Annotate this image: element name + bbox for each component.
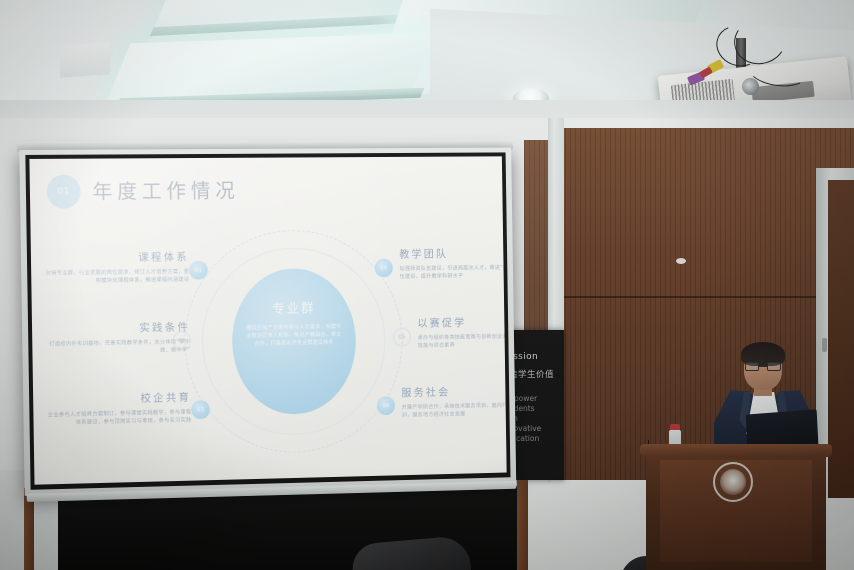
lecture-hall-scene: Mission 创造学生价值 Empower students with inn…: [0, 0, 854, 570]
slide-section-badge: 01: [47, 175, 81, 209]
podium-top-surface: [640, 444, 832, 457]
slide-block-practice-body: 打造校内外实训基地，完善实践教学条件，充分体现“学中做、做中学”: [42, 338, 190, 357]
slide-block-practice: 实践条件 打造校内外实训基地，完善实践教学条件，充分体现“学中做、做中学”: [42, 319, 191, 357]
slide-block-teaching-team-heading: 教学团队: [399, 245, 506, 261]
slide-title: 年度工作情况: [92, 175, 240, 205]
diagram-node-04-label: 04: [380, 265, 387, 271]
diagram-node-03-label: 03: [197, 407, 205, 413]
diagram-node-01-label: 01: [195, 267, 203, 273]
podium-emblem-icon: [713, 462, 753, 502]
projection-screen: 01 年度工作情况 专业群 围绕区域产业链布局与人才需求，构建专业群协同育人机制…: [19, 148, 516, 496]
slide-block-curriculum: 课程体系 对接专业群、行业发展的岗位需求，修订人才培养方案，重构模块化课程体系，…: [41, 249, 190, 286]
slide-block-teaching-team-body: 加强师资队伍建设，引进高层次人才，推进“双师型”教师队伍建设，提升教学科研水平: [399, 264, 506, 282]
diagram-node-03: 03: [191, 400, 210, 419]
diagram-node-05: 05: [393, 328, 411, 347]
wood-seam-horizontal: [560, 296, 854, 298]
slide-block-social-service-heading: 服务社会: [401, 383, 506, 400]
slide-block-curriculum-heading: 课程体系: [41, 249, 189, 266]
slide-block-school-enterprise-heading: 校企共育: [43, 390, 191, 408]
ceiling-step-fascia: [60, 42, 110, 77]
slide-block-competition: 以赛促学 承办与组织各类技能竞赛与创新创业大赛，提升学生职业技能与综合素养: [417, 314, 506, 351]
slide-block-social-service-body: 开展产学研合作，承接技术服务项目，面向行业企业开展培训，服务地方经济社会发展: [402, 401, 507, 420]
diagram-node-04: 04: [375, 259, 393, 278]
diagram-node-06: 06: [377, 396, 395, 415]
diagram-core-body: 围绕区域产业链布局与人才需求，构建专业群协同育人机制，推进产教融合、校企合作，打…: [244, 323, 345, 348]
blackboard-trim-right: [517, 480, 528, 570]
wall-fixture-speck: [676, 258, 686, 264]
diagram-node-06-label: 06: [382, 403, 389, 409]
diagram-node-01: 01: [189, 261, 208, 280]
eyeglasses-icon: [745, 362, 781, 371]
slide-section-badge-label: 01: [57, 187, 70, 197]
presentation-slide: 01 年度工作情况 专业群 围绕区域产业链布局与人才需求，构建专业群协同育人机制…: [29, 156, 506, 484]
diagram-node-05-label: 05: [398, 334, 405, 340]
slide-block-competition-heading: 以赛促学: [417, 314, 506, 331]
slide-block-teaching-team: 教学团队 加强师资队伍建设，引进高层次人才，推进“双师型”教师队伍建设，提升教学…: [399, 245, 506, 281]
slide-block-curriculum-body: 对接专业群、行业发展的岗位需求，修订人才培养方案，重构模块化课程体系，推进课程内…: [41, 268, 189, 286]
slide-block-social-service: 服务社会 开展产学研合作，承接技术服务项目，面向行业企业开展培训，服务地方经济社…: [401, 383, 506, 420]
slide-block-practice-heading: 实践条件: [42, 319, 190, 336]
slide-block-school-enterprise: 校企共育 企业参与人才培养方案制订，参与课堂实践教学，参与课程体系建设，参与顶岗…: [43, 390, 192, 428]
slide-block-school-enterprise-body: 企业参与人才培养方案制订，参与课堂实践教学，参与课程体系建设，参与顶岗实习与考核…: [43, 408, 191, 428]
diagram-core-title: 专业群: [272, 298, 316, 317]
slide-block-competition-body: 承办与组织各类技能竞赛与创新创业大赛，提升学生职业技能与综合素养: [418, 332, 507, 350]
